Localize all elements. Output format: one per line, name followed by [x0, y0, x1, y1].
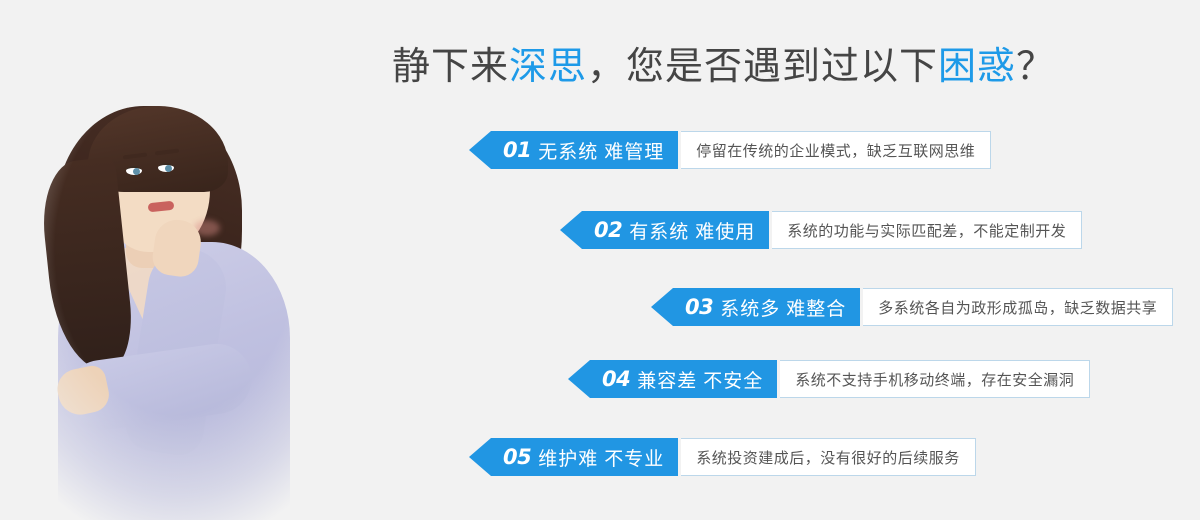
pain-point-title-b: 难整合	[786, 298, 846, 320]
pain-point-title-b: 不安全	[703, 370, 763, 392]
pain-point-tag[interactable]: 04 兼容差不安全	[568, 360, 777, 398]
pain-point-desc: 多系统各自为政形成孤岛，缺乏数据共享	[863, 288, 1173, 326]
pain-point-tag[interactable]: 02 有系统难使用	[560, 211, 769, 249]
pain-point-title: 兼容差不安全	[637, 366, 763, 393]
pain-point-title-a: 有系统	[629, 221, 689, 243]
pain-point-tag[interactable]: 05 维护难不专业	[469, 438, 678, 476]
pain-point-title-b: 难管理	[604, 141, 664, 163]
pain-point-tag[interactable]: 01 无系统难管理	[469, 131, 678, 169]
pain-point-title: 有系统难使用	[629, 217, 755, 244]
list-item[interactable]: 03 系统多难整合 多系统各自为政形成孤岛，缺乏数据共享	[651, 288, 1173, 326]
list-item[interactable]: 02 有系统难使用 系统的功能与实际匹配差，不能定制开发	[560, 211, 1082, 249]
pain-point-number: 02	[594, 220, 622, 241]
pain-point-number: 01	[503, 140, 531, 161]
promo-banner: 静下来深思，您是否遇到过以下困惑？ 01 无系统难管理 停留在传统的企业模式，缺…	[0, 0, 1200, 520]
pain-point-tag[interactable]: 03 系统多难整合	[651, 288, 860, 326]
pain-point-title: 无系统难管理	[538, 137, 664, 164]
pain-point-title-a: 系统多	[720, 298, 780, 320]
list-item[interactable]: 05 维护难不专业 系统投资建成后，没有很好的后续服务	[469, 438, 976, 476]
list-item[interactable]: 01 无系统难管理 停留在传统的企业模式，缺乏互联网思维	[469, 131, 991, 169]
pain-point-number: 03	[685, 297, 713, 318]
pain-point-title: 维护难不专业	[538, 444, 664, 471]
pain-point-list: 01 无系统难管理 停留在传统的企业模式，缺乏互联网思维 02 有系统难使用 系…	[0, 0, 1200, 520]
list-item[interactable]: 04 兼容差不安全 系统不支持手机移动终端，存在安全漏洞	[568, 360, 1090, 398]
pain-point-desc: 系统投资建成后，没有很好的后续服务	[681, 438, 976, 476]
pain-point-title-a: 兼容差	[637, 370, 697, 392]
pain-point-desc: 系统不支持手机移动终端，存在安全漏洞	[780, 360, 1090, 398]
pain-point-desc: 系统的功能与实际匹配差，不能定制开发	[772, 211, 1082, 249]
pain-point-number: 05	[503, 447, 531, 468]
pain-point-title-a: 维护难	[538, 448, 598, 470]
pain-point-number: 04	[602, 369, 630, 390]
pain-point-title-b: 不专业	[604, 448, 664, 470]
pain-point-title-b: 难使用	[695, 221, 755, 243]
pain-point-title: 系统多难整合	[720, 294, 846, 321]
pain-point-title-a: 无系统	[538, 141, 598, 163]
pain-point-desc: 停留在传统的企业模式，缺乏互联网思维	[681, 131, 991, 169]
